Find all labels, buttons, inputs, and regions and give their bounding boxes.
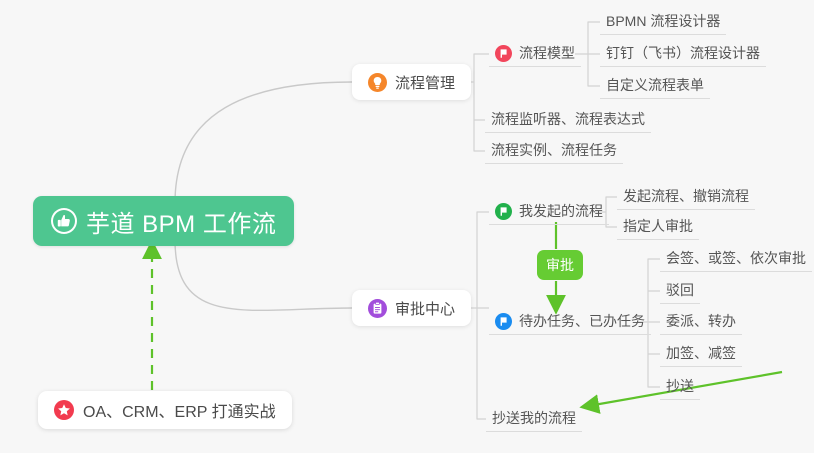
star-icon — [54, 400, 74, 420]
floating-label-integration-practice: OA、CRM、ERP 打通实战 — [83, 398, 276, 422]
label-add-remove-sign: 加签、减签 — [666, 343, 736, 363]
node-custom-process-form[interactable]: 自定义流程表单 — [600, 72, 710, 99]
node-carbon-copy[interactable]: 抄送 — [660, 373, 700, 400]
root-label: 芋道 BPM 工作流 — [86, 204, 276, 239]
branch-label-approval-center: 审批中心 — [395, 298, 455, 319]
label-process-listener-expression: 流程监听器、流程表达式 — [491, 109, 645, 129]
green-flag-icon — [495, 203, 512, 220]
node-todo-done-task[interactable]: 待办任务、已办任务 — [489, 308, 651, 335]
node-dingtalk-feishu-designer[interactable]: 钉钉（飞书）流程设计器 — [600, 40, 766, 67]
tag-label-approval: 审批 — [546, 255, 574, 275]
node-countersign-orsign-sequential[interactable]: 会签、或签、依次审批 — [660, 245, 812, 272]
clipboard-icon — [368, 299, 387, 318]
label-cc-to-me-process: 抄送我的流程 — [492, 408, 576, 428]
thumbs-up-icon — [51, 208, 77, 234]
label-start-cancel-process: 发起流程、撤销流程 — [623, 186, 749, 206]
blue-flag-icon — [495, 313, 512, 330]
node-bpmn-designer[interactable]: BPMN 流程设计器 — [600, 8, 726, 35]
node-add-remove-sign[interactable]: 加签、减签 — [660, 340, 742, 367]
label-process-instance-task: 流程实例、流程任务 — [491, 140, 617, 160]
branch-node-process-management[interactable]: 流程管理 — [352, 64, 471, 100]
red-flag-icon — [495, 45, 512, 62]
label-dingtalk-feishu-designer: 钉钉（飞书）流程设计器 — [606, 43, 760, 63]
label-my-initiated-process: 我发起的流程 — [519, 201, 603, 221]
node-cc-to-me-process[interactable]: 抄送我的流程 — [486, 405, 582, 432]
lightbulb-icon — [368, 73, 387, 92]
branch-node-approval-center[interactable]: 审批中心 — [352, 290, 471, 326]
branch-label-process-management: 流程管理 — [395, 72, 455, 93]
label-carbon-copy: 抄送 — [666, 376, 694, 396]
node-assignee-approval[interactable]: 指定人审批 — [617, 213, 699, 240]
label-custom-process-form: 自定义流程表单 — [606, 75, 704, 95]
node-my-initiated-process[interactable]: 我发起的流程 — [489, 198, 609, 225]
label-todo-done-task: 待办任务、已办任务 — [519, 311, 645, 331]
link-root-to-process-management — [175, 82, 352, 203]
node-reject[interactable]: 驳回 — [660, 277, 700, 304]
node-start-cancel-process[interactable]: 发起流程、撤销流程 — [617, 183, 755, 210]
root-node[interactable]: 芋道 BPM 工作流 — [33, 196, 294, 246]
node-process-instance-task[interactable]: 流程实例、流程任务 — [485, 137, 623, 164]
node-process-model[interactable]: 流程模型 — [489, 40, 581, 67]
node-process-listener-expression[interactable]: 流程监听器、流程表达式 — [485, 106, 651, 133]
floating-node-integration-practice[interactable]: OA、CRM、ERP 打通实战 — [38, 391, 292, 429]
label-assignee-approval: 指定人审批 — [623, 216, 693, 236]
label-reject: 驳回 — [666, 280, 694, 300]
tag-node-approval[interactable]: 审批 — [537, 250, 583, 280]
node-delegate-transfer[interactable]: 委派、转办 — [660, 308, 742, 335]
link-root-to-approval-center — [175, 240, 352, 310]
label-delegate-transfer: 委派、转办 — [666, 311, 736, 331]
label-countersign-orsign-sequential: 会签、或签、依次审批 — [666, 248, 806, 268]
label-process-model: 流程模型 — [519, 43, 575, 63]
mindmap-canvas: 芋道 BPM 工作流 流程管理 流程模型 BPMN 流程设计器 钉钉（飞书）流程… — [0, 0, 814, 453]
label-bpmn-designer: BPMN 流程设计器 — [606, 11, 720, 31]
